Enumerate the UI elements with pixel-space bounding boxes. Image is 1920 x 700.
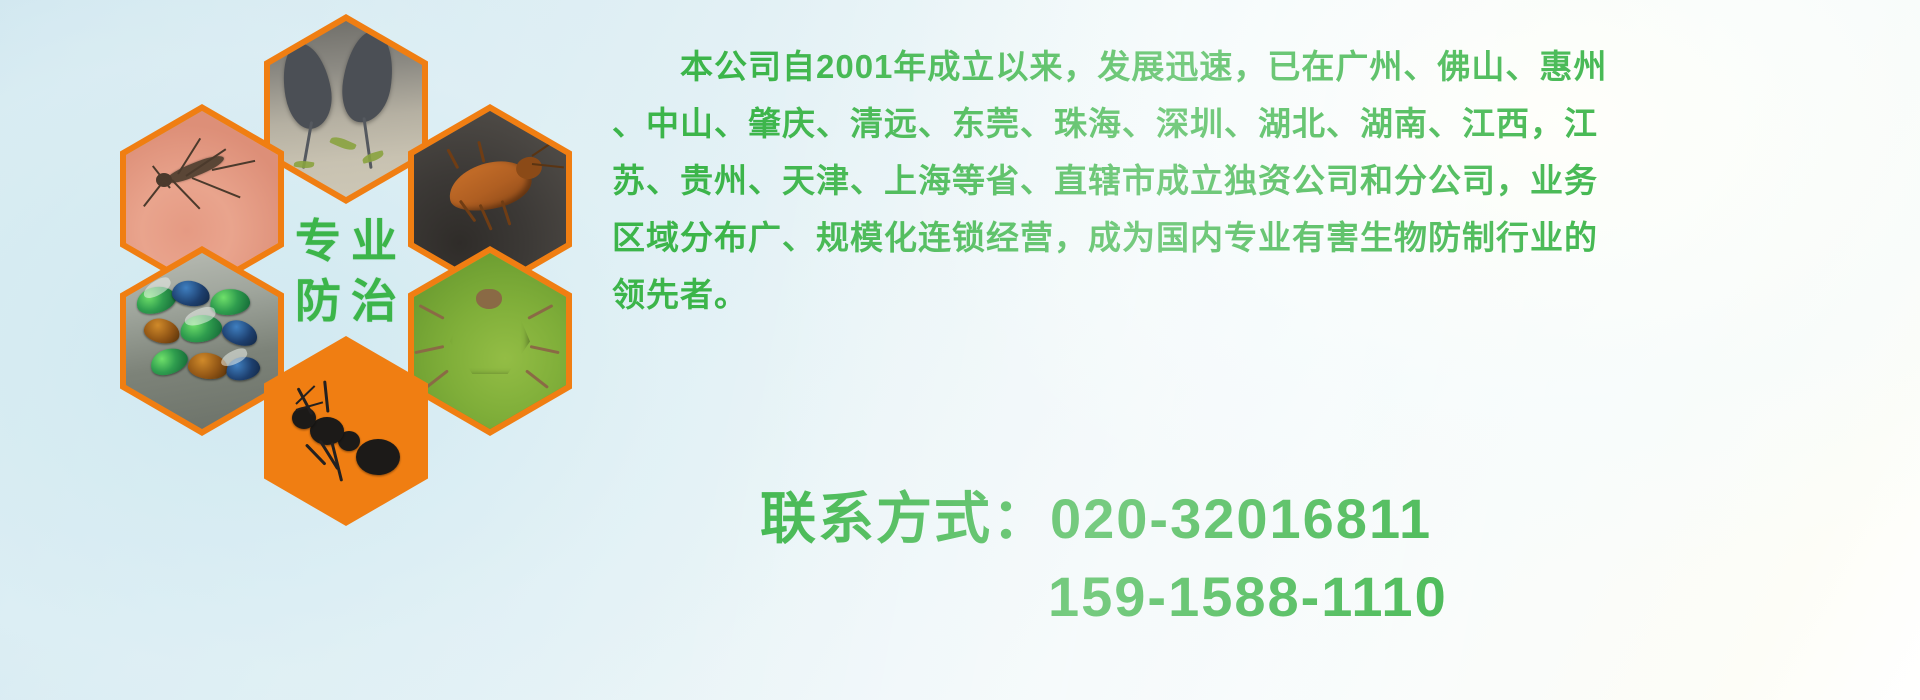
- promo-banner: 专业 防治 本公司自2001年成立以来，发展迅速，已在广州、佛山、惠州 、中山、…: [0, 0, 1920, 700]
- description-line-5: 领先者。: [612, 266, 1908, 323]
- brand-label-line1: 专业: [285, 218, 407, 264]
- hex-tile-stink-bug-image: [414, 253, 566, 429]
- hex-tile-stink-bug: [408, 246, 572, 436]
- hex-tile-ant-image: [270, 343, 422, 519]
- hex-tile-flies: [120, 246, 284, 436]
- hex-tile-flies-image: [126, 253, 278, 429]
- hex-tile-rats-image: [270, 21, 422, 197]
- description-line-4: 区域分布广、规模化连锁经营，成为国内专业有害生物防制行业的: [612, 209, 1908, 266]
- hex-tile-rats: [264, 14, 428, 204]
- contact-phone-secondary[interactable]: 159-1588-1110: [760, 558, 1860, 636]
- brand-label-line2: 防治: [285, 278, 407, 324]
- description-line-3: 苏、贵州、天津、上海等省、直辖市成立独资公司和分公司，业务: [612, 152, 1908, 209]
- hex-tile-brand-label: 专业 防治: [264, 176, 428, 366]
- company-description: 本公司自2001年成立以来，发展迅速，已在广州、佛山、惠州 、中山、肇庆、清远、…: [612, 38, 1908, 323]
- hexagon-photo-cluster: 专业 防治: [80, 0, 600, 580]
- contact-block: 联系方式：020-32016811 159-1588-1110: [760, 480, 1860, 636]
- description-line-1: 本公司自2001年成立以来，发展迅速，已在广州、佛山、惠州: [612, 38, 1908, 95]
- brand-label: 专业 防治: [264, 176, 428, 366]
- description-line-2: 、中山、肇庆、清远、东莞、珠海、深圳、湖北、湖南、江西，江: [612, 95, 1908, 152]
- contact-phone-primary[interactable]: 联系方式：020-32016811: [760, 480, 1860, 558]
